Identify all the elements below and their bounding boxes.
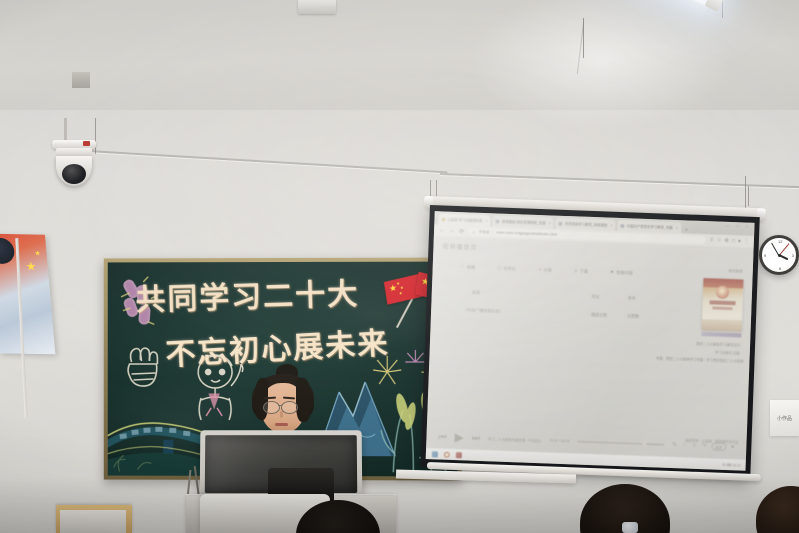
close-icon[interactable]: × [548,220,551,225]
play-icon[interactable]: ▶ [454,431,464,443]
page-title: 视频播放页 [442,241,477,251]
security-camera-icon [50,140,98,192]
meta-duration-label: 时长 [592,294,600,300]
quality-badge[interactable]: 高清 [711,442,726,451]
back-icon[interactable]: ← [439,227,445,233]
lamp-hanger [722,0,723,18]
ceiling-vent [298,0,336,14]
poster-caption-3: 专题：党的二十大精神学习专题 · 学习贯彻党的二十大精神 [656,355,744,363]
security-label: 不安全 [479,229,490,234]
meta-publish-label: 发布 [628,295,636,301]
report-button[interactable]: ⚑ 举报内容 [610,270,633,277]
wall-sign: 小作品 [770,400,799,436]
progress-bar[interactable] [578,441,665,446]
not-secure-icon: ⚠ [472,229,476,234]
cast-icon[interactable]: □ [732,238,735,244]
wall-clock: 12 3 6 9 [759,235,799,275]
report-icon: ⚑ [610,270,614,276]
poster-caption-1: 党的二十大报告学习辅导百问 [696,341,740,348]
share-icon: ↗ [538,267,542,273]
screen-hook [748,186,749,206]
forward-icon[interactable]: → [449,228,455,234]
meta-source-label: 来源 [472,290,480,296]
page-action-toolbar[interactable]: ♡ 收藏 ☐ 写评论 ↗ 分享 ⇩ 下载 [461,264,691,278]
projected-browser-window: 公益网-学习文献资料库 × 视频播放-精彩党课视频_党建 × 党章党规学习教育_… [426,211,755,471]
player-title: 学习二十大精神专题党课 · 不忘初心 [488,436,542,443]
book-poster-thumbnail[interactable] [702,278,744,331]
poster-divider [701,332,741,337]
close-icon[interactable]: × [676,225,679,230]
desk-box-paper [60,510,126,533]
heart-icon: ♡ [461,264,465,270]
profile-icon[interactable]: ● [738,238,741,244]
favicon-icon [621,224,625,228]
skip-forward-icon[interactable]: ⏭ [472,433,480,442]
tab-title: 党章党规学习教育_网络课堂 [565,221,608,228]
word-icon[interactable] [456,452,462,458]
action-label: 举报内容 [616,270,633,277]
download-icon[interactable]: ⇩ [692,443,697,449]
action-label: 写评论 [503,266,516,272]
hair-clip [622,522,638,533]
extensions-icon[interactable]: ⚙ [724,238,729,244]
browser-actions[interactable]: ⇧ ☆ ⚙ □ ● ⋮ [710,237,749,244]
download-button[interactable]: ⇩ 下载 [574,268,588,275]
monitor-stand [72,72,90,88]
share-button[interactable]: ↗ 分享 [538,267,552,274]
wall-sign-text: 小作品 [777,415,792,422]
loop-icon[interactable]: ↻ [672,442,677,448]
classroom-scene: ★ ★ [0,0,799,533]
poster-caption-2: 学习出版社 出版 [715,350,740,356]
meta-source-value: （中央广播电视总台） [463,307,503,314]
action-label: 下载 [580,269,589,275]
fist-chalk-art [124,340,164,392]
tab-title: 中国共产党党史学习教育_专题 [627,223,673,230]
ceiling-wire [745,176,746,210]
tab-title: 视频播放-精彩党课视频_党建 [502,219,546,226]
chrome-icon[interactable] [444,451,450,457]
player-time: 02:37 / 20:14 [550,439,570,444]
system-tray[interactable]: 中 ⌨ 16:12 [722,462,741,468]
favicon-icon [441,217,445,221]
player-actions[interactable]: ↻ ♡ ⇩ ↷ 高清 ● [672,441,734,451]
share-icon[interactable]: ⇧ [710,237,714,243]
comment-button[interactable]: ☐ 写评论 [497,266,516,273]
close-icon[interactable]: × [610,223,613,228]
favicon-icon [559,221,563,225]
meta-likes-label: 点赞数 [627,313,639,319]
glasses-icon [263,401,280,414]
glasses-icon [281,401,298,414]
url-text: www.xuexi.cn/lgpage/detail/index.html [496,230,557,236]
skip-back-icon[interactable]: ⏮ [438,432,446,441]
favicon-icon [496,219,500,223]
action-label: 收藏 [467,264,476,270]
related-note: 相关推荐 [728,269,743,275]
download-icon: ⇩ [574,268,578,274]
reload-icon[interactable]: ⟳ [459,228,464,235]
tab-title: 公益网-学习文献资料库 [447,217,482,223]
close-icon[interactable]: × [485,218,488,223]
start-icon[interactable] [432,451,438,457]
share-icon[interactable]: ↷ [702,443,707,449]
web-page-content: 视频播放页 相关推荐 ♡ 收藏 ☐ 写评论 ↗ 分享 [426,236,754,471]
like-icon[interactable]: ♡ [682,442,687,448]
projection-screen: 公益网-学习文献资料库 × 视频播放-精彩党课视频_党建 × 党章党规学习教育_… [420,205,759,479]
star-icon[interactable]: ☆ [717,238,722,244]
menu-icon[interactable]: ⋮ [744,239,749,245]
favorite-button[interactable]: ♡ 收藏 [461,264,476,271]
comment-icon: ☐ [497,266,501,272]
blackboard-headline-1: 共同学习二十大 [135,269,360,319]
action-label: 分享 [543,267,552,273]
window-controls[interactable]: — □ × [725,223,751,229]
meta-views-label: 播放次数 [591,312,607,319]
volume-icon[interactable]: ● [731,444,735,450]
